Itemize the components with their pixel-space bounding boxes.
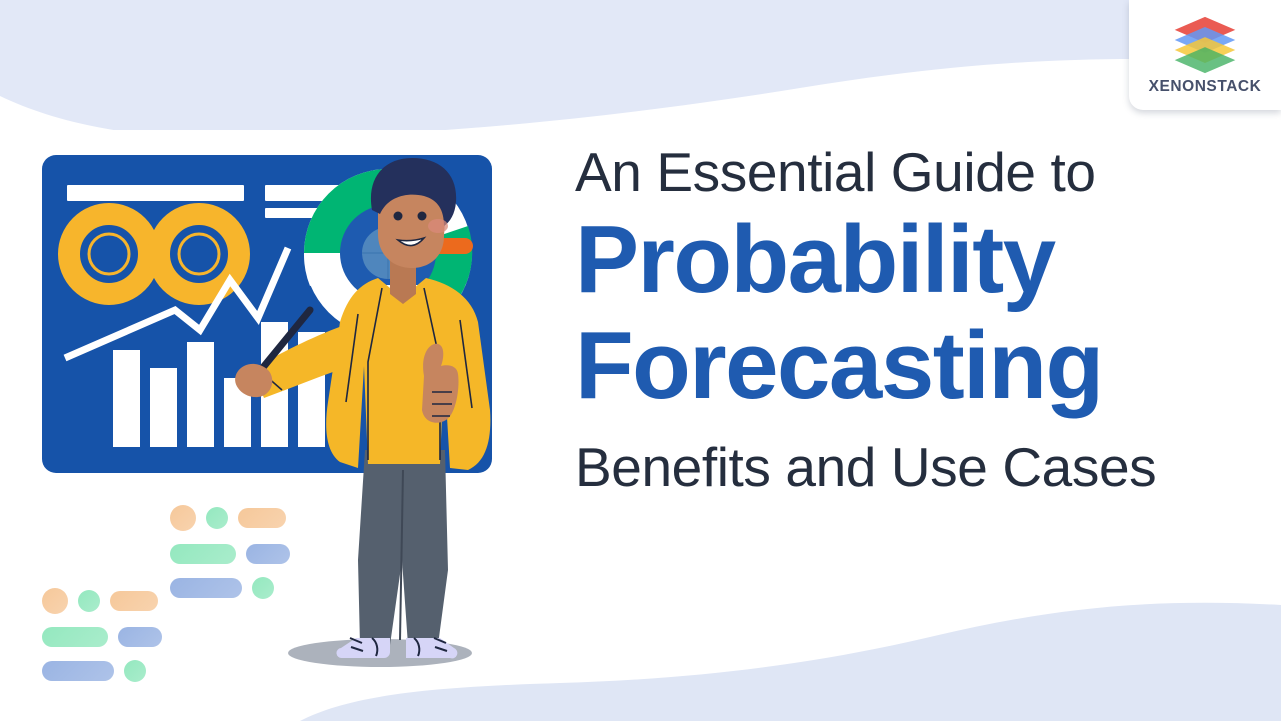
headline-eyebrow: An Essential Guide to xyxy=(575,140,1255,204)
headline-subtitle: Benefits and Use Cases xyxy=(575,434,1255,500)
pill-cluster-lower xyxy=(42,588,162,695)
decor-pill-green xyxy=(170,544,236,564)
pill-cluster-upper xyxy=(170,505,290,612)
headline-main-2: Forecasting xyxy=(575,310,1255,422)
decor-dot-green xyxy=(252,577,274,599)
decor-dot-orange xyxy=(170,505,196,531)
decor-pill-blue xyxy=(118,627,162,647)
wave-top-decoration xyxy=(0,0,1281,130)
title-card-canvas: XENONSTACK An Essential Guide to Probabi… xyxy=(0,0,1281,721)
decor-pill-blue xyxy=(170,578,242,598)
character-blush xyxy=(428,219,448,233)
decor-pill-blue xyxy=(246,544,290,564)
pill-row xyxy=(42,627,162,647)
headline-block: An Essential Guide to Probability Foreca… xyxy=(575,140,1255,500)
decor-pill-green xyxy=(42,627,108,647)
headline-main-1: Probability xyxy=(575,204,1255,316)
pill-row xyxy=(42,660,162,682)
pill-row xyxy=(42,588,162,614)
decor-dot-green xyxy=(206,507,228,529)
decor-pill-blue xyxy=(42,661,114,681)
decor-pill-orange xyxy=(238,508,286,528)
character-jacket xyxy=(326,278,490,470)
brand-wordmark: XENONSTACK xyxy=(1149,78,1262,96)
pill-row xyxy=(170,544,290,564)
pill-row xyxy=(170,577,290,599)
decor-pill-orange xyxy=(110,591,158,611)
pill-row xyxy=(170,505,290,531)
decor-dot-green xyxy=(124,660,146,682)
stacked-layers-icon xyxy=(1168,14,1242,76)
brand-logo-card[interactable]: XENONSTACK xyxy=(1129,0,1281,110)
decor-dot-orange xyxy=(42,588,68,614)
decor-dot-green xyxy=(78,590,100,612)
